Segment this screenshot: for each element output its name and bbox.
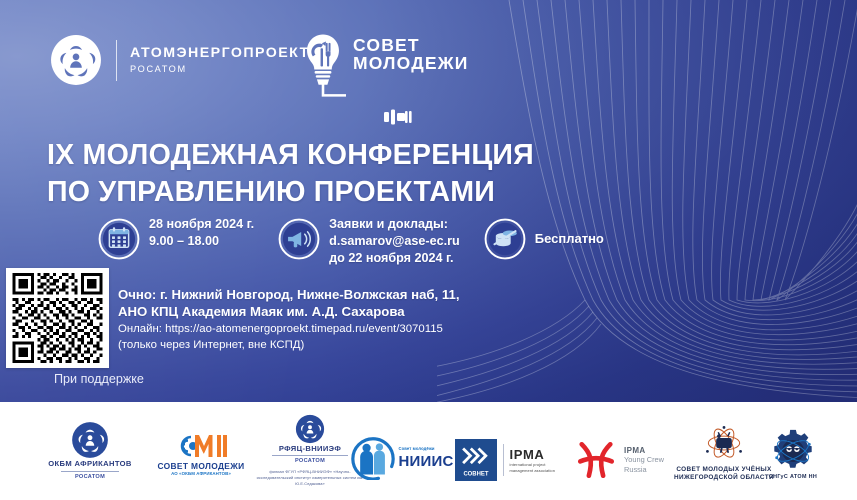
partner-sm-line2: АО «ОКБМ АФРИКАНТОВ» xyxy=(157,471,244,477)
info-date-text: 28 ноября 2024 г. 9.00 – 18.00 xyxy=(149,216,254,250)
info-price-text: Бесплатно xyxy=(535,218,604,260)
logo-divider xyxy=(116,40,117,81)
info-date-line-1: 28 ноября 2024 г. xyxy=(149,216,254,233)
info-apply-email[interactable]: d.samarov@ase-ec.ru xyxy=(329,233,460,250)
qr-code-icon[interactable] xyxy=(6,268,109,368)
info-apply-deadline: до 22 ноября 2024 г. xyxy=(329,250,460,267)
partner-logo-ipma-young-crew: IPMA Young Crew Russia xyxy=(560,416,678,500)
partner-logo-sovet-molodezhi: СОВЕТ МОЛОДЕЖИ АО «ОКБМ АФРИКАНТОВ» xyxy=(147,410,255,498)
title-line-2: ПО УПРАВЛЕНИЮ ПРОЕКТАМИ xyxy=(47,174,687,211)
rosatom-line1: АТОМЭНЕРГОПРОЕКТ xyxy=(130,45,310,62)
partner-logo-niiis: Совет молодёжи НИИИС xyxy=(348,414,456,500)
sovnet-mark-label: СОВНЕТ xyxy=(463,471,488,477)
partner-atomnn-line1: СНГуС АТОМ НН xyxy=(769,474,817,481)
partner-caption-okbm: ОКБМ АФРИКАНТОВ РОСАТОМ xyxy=(48,459,131,480)
lightbulb-plug-icon xyxy=(300,30,346,106)
rosatom-wordmark: АТОМЭНЕРГОПРОЕКТ РОСАТОМ xyxy=(130,45,310,76)
youth-council-line2: МОЛОДЕЖИ xyxy=(353,54,469,72)
caption-rule xyxy=(61,471,119,472)
gear-cat-atom-icon xyxy=(769,428,817,474)
sovnet-chevrons-icon: СОВНЕТ xyxy=(455,439,497,481)
hero-panel: АТОМЭНЕРГОПРОЕКТ РОСАТОМ xyxy=(0,0,857,402)
venue-online-url[interactable]: Онлайн: https://ao-atomenergoproekt.time… xyxy=(118,322,460,337)
partner-logo-sovnet: СОВНЕТ IPMA international project manage… xyxy=(447,416,565,500)
rosatom-atom-icon xyxy=(71,421,109,459)
info-row: 28 ноября 2024 г. 9.00 – 18.00 Заявки xyxy=(98,216,604,274)
info-date-line-2: 9.00 – 18.00 xyxy=(149,233,254,250)
deer-atom-icon xyxy=(701,422,747,466)
partner-ipmayc-line3: Russia xyxy=(624,465,664,475)
niiis-people-icon xyxy=(350,436,396,480)
rosatom-logo-lockup: АТОМЭНЕРГОПРОЕКТ РОСАТОМ xyxy=(50,34,310,86)
partner-logo-okbm: ОКБМ АФРИКАНТОВ РОСАТОМ xyxy=(36,407,144,495)
rosatom-atom-icon xyxy=(50,34,102,86)
venue-block: Очно: г. Нижний Новгород, Нижне-Волжская… xyxy=(118,286,460,353)
partner-sovnet-tagline: international project management associa… xyxy=(510,462,558,473)
rosatom-line2: РОСАТОМ xyxy=(130,64,310,75)
title-line-1: IX МОЛОДЕЖНАЯ КОНФЕРЕНЦИЯ xyxy=(47,137,687,174)
info-item-apply: Заявки и доклады: d.samarov@ase-ec.ru до… xyxy=(278,216,460,267)
free-coins-icon xyxy=(484,218,526,260)
youth-council-logo-lockup: СОВЕТ МОЛОДЕЖИ xyxy=(300,30,469,106)
info-item-price: Бесплатно xyxy=(484,216,604,260)
info-price-label: Бесплатно xyxy=(535,230,604,247)
calendar-icon xyxy=(98,218,140,260)
venue-online-note: (только через Интернет, вне КСПД) xyxy=(118,338,460,353)
partner-ipmayc-line1: IPMA xyxy=(624,446,664,455)
partner-caption-atomnn: СНГуС АТОМ НН xyxy=(769,474,817,481)
partner-okbm-line1: ОКБМ АФРИКАНТОВ xyxy=(48,459,131,468)
partner-okbm-line2: РОСАТОМ xyxy=(48,474,131,481)
rosatom-atom-icon xyxy=(295,414,325,444)
youth-council-line1: СОВЕТ xyxy=(353,36,469,54)
top-logo-group: АТОМЭНЕРГОПРОЕКТ РОСАТОМ xyxy=(0,30,560,106)
info-apply-text: Заявки и доклады: d.samarov@ase-ec.ru до… xyxy=(329,216,460,267)
partner-niiis-line1: НИИИС xyxy=(398,453,453,470)
youth-council-wordmark: СОВЕТ МОЛОДЕЖИ xyxy=(353,36,469,72)
partner-sm-line1: СОВЕТ МОЛОДЕЖИ xyxy=(157,461,244,472)
partner-caption-sm: СОВЕТ МОЛОДЕЖИ АО «ОКБМ АФРИКАНТОВ» xyxy=(157,461,244,478)
conference-poster: АТОМЭНЕРГОПРОЕКТ РОСАТОМ xyxy=(0,0,857,500)
sm-monogram-icon xyxy=(171,431,231,461)
partner-ipmayc-line2: Young Crew xyxy=(624,455,664,465)
caption-rule xyxy=(272,455,348,456)
ipma-yc-cross-icon xyxy=(574,440,618,480)
partner-logo-strip: ОКБМ АФРИКАНТОВ РОСАТОМ xyxy=(0,402,857,500)
partner-sovnet-ipma: IPMA xyxy=(510,447,558,462)
page-title: IX МОЛОДЕЖНАЯ КОНФЕРЕНЦИЯ ПО УПРАВЛЕНИЮ … xyxy=(47,137,687,211)
venue-strong-line-2: АНО КПЦ Академия Маяк им. А.Д. Сахарова xyxy=(118,303,460,320)
support-label: При поддержке xyxy=(54,372,144,386)
info-item-date: 28 ноября 2024 г. 9.00 – 18.00 xyxy=(98,216,254,260)
info-apply-line-1: Заявки и доклады: xyxy=(329,216,460,233)
megaphone-icon xyxy=(278,218,320,260)
venue-strong-line-1: Очно: г. Нижний Новгород, Нижне-Волжская… xyxy=(118,286,460,303)
partner-logo-atom-nn: СНГуС АТОМ НН xyxy=(745,410,841,498)
